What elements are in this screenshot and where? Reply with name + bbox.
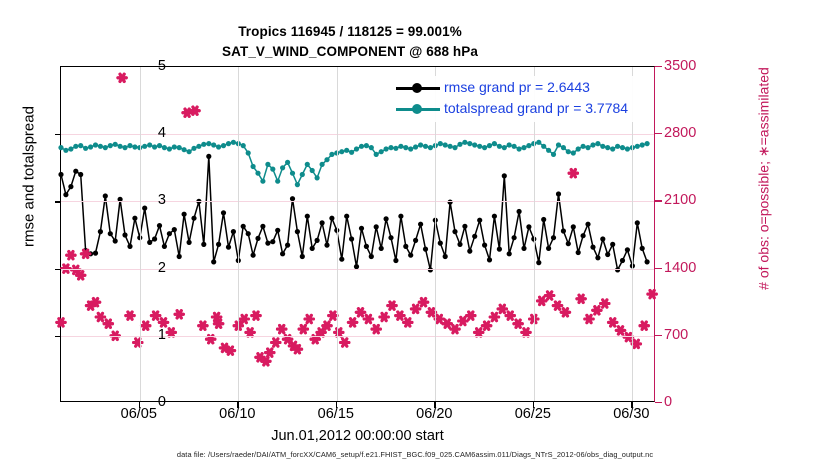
chart-title-line2: SAT_V_WIND_COMPONENT @ 688 hPa — [0, 44, 700, 59]
x-axis-tick-mark — [237, 402, 238, 408]
x-axis-tick-mark — [139, 402, 140, 408]
x-axis-tick-mark — [533, 402, 534, 408]
chart-figure: Tropics 116945 / 118125 = 99.001% SAT_V_… — [0, 0, 830, 470]
y-axis-tick-label: 5 — [126, 58, 166, 74]
x-axis-tick-mark — [631, 402, 632, 408]
series-rmse — [58, 154, 649, 273]
y2-axis-tick-label: 700 — [664, 327, 734, 343]
chart-title-line1: Tropics 116945 / 118125 = 99.001% — [0, 24, 700, 39]
y2-axis-tick-mark — [655, 133, 662, 134]
chart-legend: rmse grand pr = 2.6443 totalspread grand… — [390, 76, 654, 122]
y2-axis-tick-mark — [655, 335, 662, 336]
y-axis-tick-mark — [55, 336, 61, 337]
x-axis-tick-label: 06/25 — [498, 406, 568, 422]
y-axis-tick-label: 2 — [126, 260, 166, 276]
y2-axis-label: # of obs: o=possible; ∗=assimilated — [756, 19, 773, 339]
y-axis-tick-mark — [55, 134, 61, 135]
y-axis-tick-mark — [55, 269, 61, 270]
x-axis-label: Jun.01,2012 00:00:00 start — [60, 428, 655, 444]
y2-axis-tick-label: 2800 — [664, 125, 734, 141]
y2-axis-tick-label: 3500 — [664, 58, 734, 74]
legend-marker-totalspread — [412, 104, 422, 114]
y-axis-tick-mark — [55, 201, 61, 202]
legend-marker-rmse — [412, 83, 422, 93]
y-axis-tick-label: 3 — [126, 192, 166, 208]
x-axis-tick-label: 06/05 — [104, 406, 174, 422]
y-axis-tick-label: 4 — [126, 125, 166, 141]
y2-axis-tick-mark — [655, 402, 662, 403]
series-totalspread — [58, 140, 649, 187]
data-file-caption: data file: /Users/raeder/DAI/ATM_forcXX/… — [0, 450, 830, 459]
x-axis-tick-label: 06/15 — [301, 406, 371, 422]
y2-axis-tick-mark — [655, 268, 662, 269]
y2-axis-tick-label: 0 — [664, 394, 734, 410]
gridline-vertical — [140, 67, 141, 401]
x-axis-tick-label: 06/30 — [596, 406, 666, 422]
legend-label-rmse: rmse grand pr = 2.6443 — [444, 77, 590, 98]
x-axis-tick-label: 06/20 — [399, 406, 469, 422]
gridline-vertical — [337, 67, 338, 401]
y2-axis-tick-mark — [655, 200, 662, 201]
y2-axis-tick-label: 2100 — [664, 192, 734, 208]
y-axis-label: rmse and totalspread — [21, 47, 38, 307]
y2-axis-tick-mark — [655, 66, 662, 67]
x-axis-tick-mark — [336, 402, 337, 408]
y2-axis-tick-label: 1400 — [664, 260, 734, 276]
x-axis-tick-label: 06/10 — [202, 406, 272, 422]
x-axis-tick-mark — [434, 402, 435, 408]
legend-label-totalspread: totalspread grand pr = 3.7784 — [444, 98, 628, 119]
gridline-vertical — [238, 67, 239, 401]
y-axis-tick-label: 1 — [126, 327, 166, 343]
